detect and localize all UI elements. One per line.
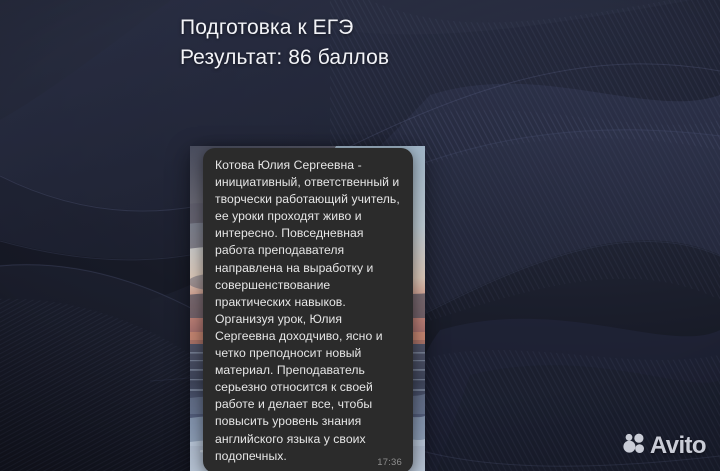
title-line-2: Результат: 86 баллов: [180, 43, 389, 73]
message-body: Котова Юлия Сергеевна - инициативный, от…: [215, 157, 401, 465]
avito-watermark: Avito: [623, 433, 706, 459]
avito-dots-icon: [623, 433, 645, 459]
message-timestamp: 17:36: [377, 457, 402, 468]
avito-wordmark: Avito: [650, 434, 706, 458]
title-line-1: Подготовка к ЕГЭ: [180, 13, 389, 43]
slide-canvas: Подготовка к ЕГЭ Результат: 86 баллов: [0, 0, 720, 471]
chat-message-bubble: Котова Юлия Сергеевна - инициативный, от…: [203, 148, 413, 471]
page-title: Подготовка к ЕГЭ Результат: 86 баллов: [180, 13, 389, 73]
